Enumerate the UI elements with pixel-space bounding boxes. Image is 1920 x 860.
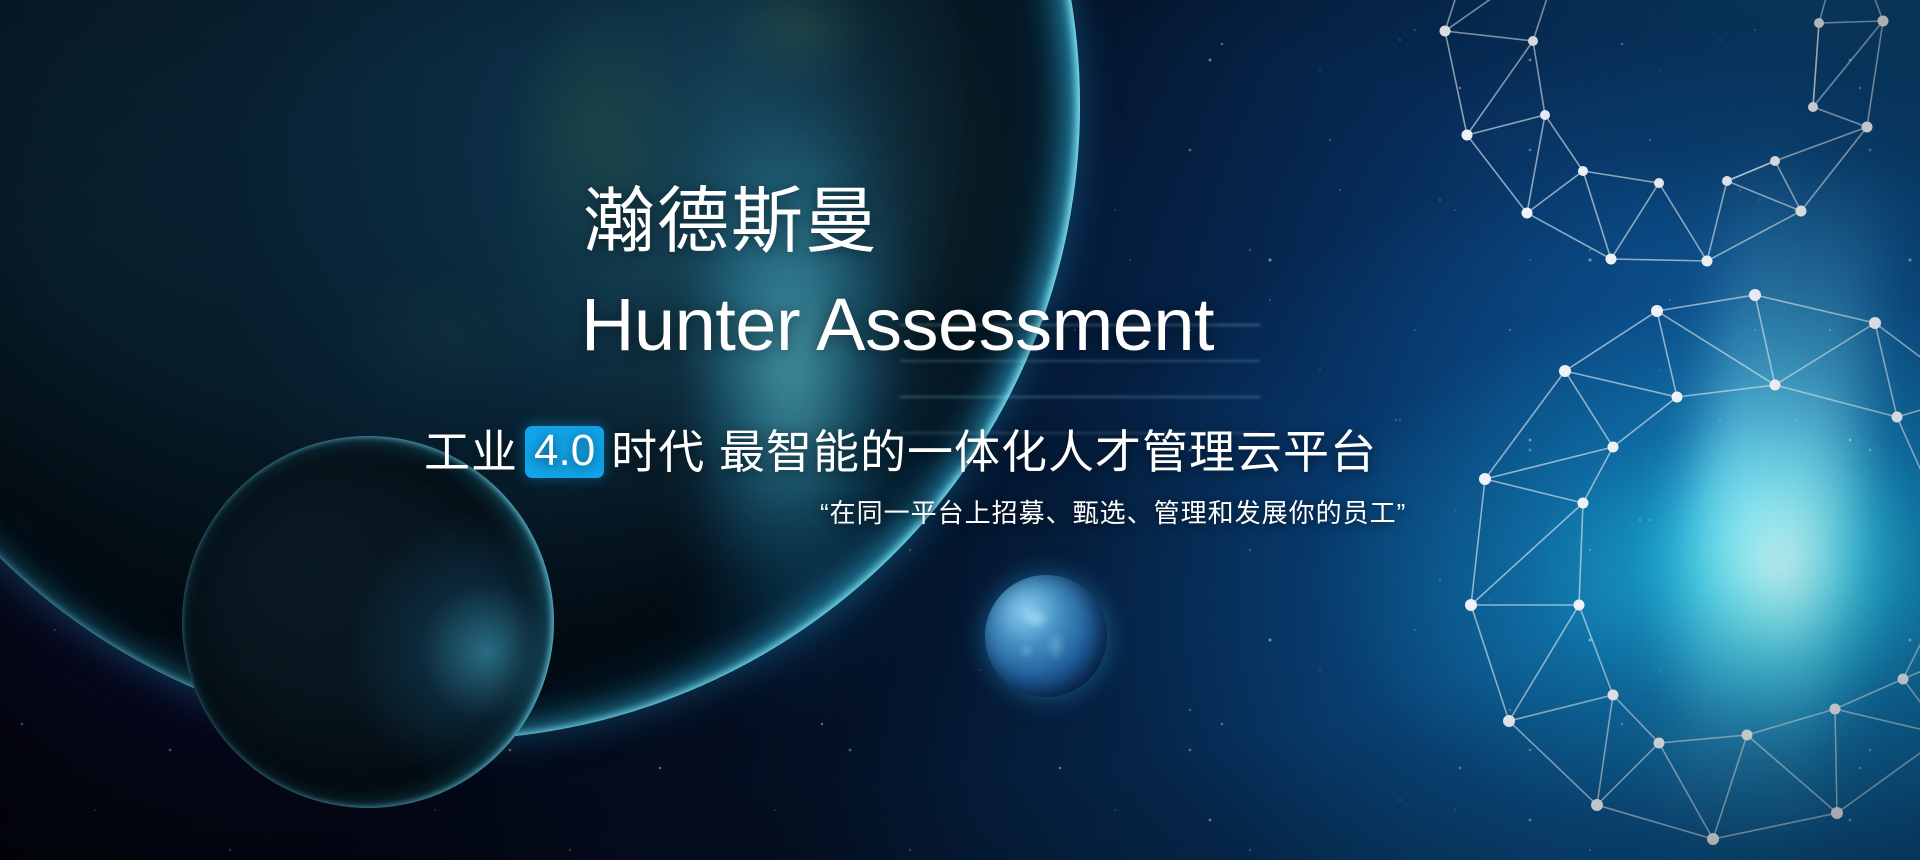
tagline-quote: “在同一平台上招募、甄选、管理和发展你的员工”	[820, 500, 1406, 526]
subtitle-trail-text: 时代 最智能的一体化人才管理云平台	[611, 429, 1377, 475]
subtitle-lead-text: 工业	[424, 429, 518, 475]
hero-copy-block: 瀚德斯曼 Hunter Assessment 工业 4.0 时代 最智能的一体化…	[0, 0, 1920, 860]
subtitle-line: 工业 4.0 时代 最智能的一体化人才管理云平台	[424, 426, 1377, 478]
hero-banner: 瀚德斯曼 Hunter Assessment 工业 4.0 时代 最智能的一体化…	[0, 0, 1920, 860]
brand-title-chinese: 瀚德斯曼	[583, 186, 879, 258]
brand-title-english: Hunter Assessment	[581, 288, 1214, 362]
industry-version-badge: 4.0	[525, 426, 604, 478]
